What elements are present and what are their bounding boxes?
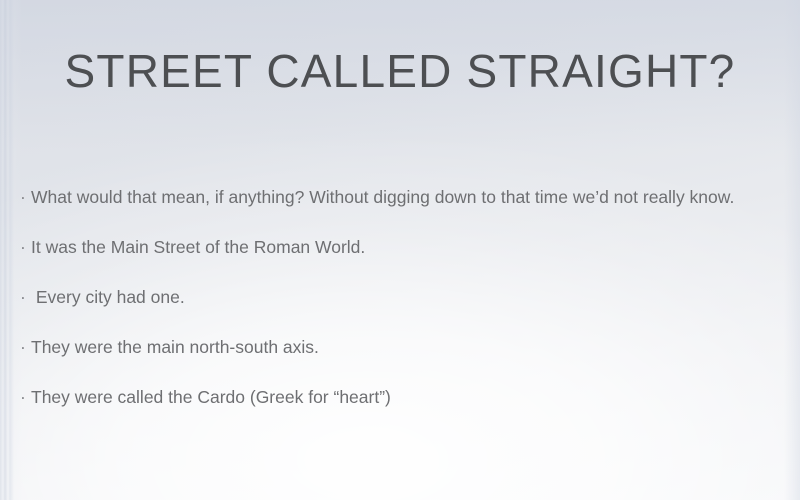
bullet-text-1: What would that mean, if anything? Witho… <box>31 184 776 210</box>
bullet-item-5: · They were called the Cardo (Greek for … <box>20 384 776 410</box>
bullet-marker-icon: · <box>20 334 31 360</box>
bullet-text-2: It was the Main Street of the Roman Worl… <box>31 234 776 260</box>
bullet-item-2: · It was the Main Street of the Roman Wo… <box>20 234 776 260</box>
bullet-item-4: · They were the main north-south axis. <box>20 334 776 360</box>
bullet-text-5: They were called the Cardo (Greek for “h… <box>31 384 776 410</box>
presentation-slide: STREET CALLED STRAIGHT? · What would tha… <box>0 0 800 500</box>
bullet-item-1: · What would that mean, if anything? Wit… <box>20 184 776 210</box>
bullet-marker-icon: · <box>20 284 31 310</box>
bullet-marker-icon: · <box>20 384 31 410</box>
bullet-marker-icon: · <box>20 234 31 260</box>
slide-title: STREET CALLED STRAIGHT? <box>0 44 800 98</box>
bullet-item-3: · Every city had one. <box>20 284 776 310</box>
bullet-text-3: Every city had one. <box>31 284 776 310</box>
slide-bullet-list: · What would that mean, if anything? Wit… <box>20 184 776 410</box>
bullet-text-4: They were the main north-south axis. <box>31 334 776 360</box>
bullet-marker-icon: · <box>20 184 31 210</box>
